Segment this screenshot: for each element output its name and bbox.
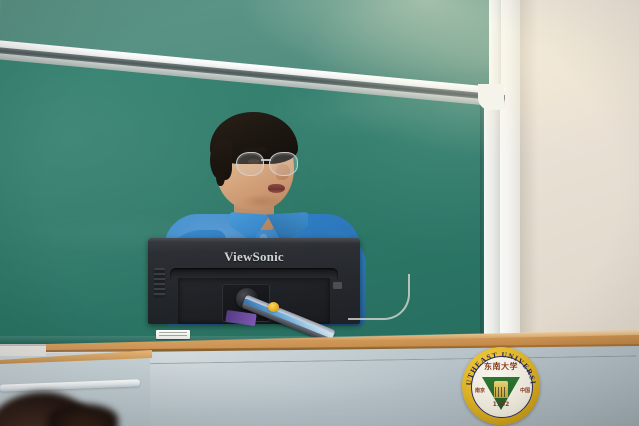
svg-text:SOUTHEAST UNIVERSITY: SOUTHEAST UNIVERSITY <box>462 347 538 386</box>
monitor-brand-label: ViewSonic <box>148 249 360 265</box>
chalkboard-right-frame <box>484 96 500 344</box>
chalkboard-upper-right-frame <box>489 0 501 96</box>
monitor-top-bevel <box>148 238 360 243</box>
monitor-arm-badge <box>268 302 279 312</box>
power-cable <box>348 274 410 320</box>
computer-monitor[interactable]: ViewSonic <box>148 238 360 334</box>
chalkboard-frame-corner <box>478 84 504 110</box>
monitor-vent <box>154 268 165 298</box>
glasses-lens-right <box>269 152 298 176</box>
emblem-arc-text: SOUTHEAST UNIVERSITY <box>462 347 540 425</box>
foreground-audience-head-highlight <box>48 404 118 426</box>
glasses-bridge <box>261 159 271 161</box>
sideburn <box>216 166 225 186</box>
podium-sticker-text <box>159 332 187 337</box>
university-emblem: 东南大学 1902 南京 中国 SOUTHEAST UNIVERSITY <box>462 347 540 425</box>
chin-shadow <box>242 194 282 208</box>
lecture-hall-photo: ViewSonic 东南大学 1902 南京 中国 <box>0 0 639 426</box>
glasses-lens-left <box>236 152 264 176</box>
glasses-icon <box>236 152 298 176</box>
monitor-port-label <box>333 282 342 289</box>
